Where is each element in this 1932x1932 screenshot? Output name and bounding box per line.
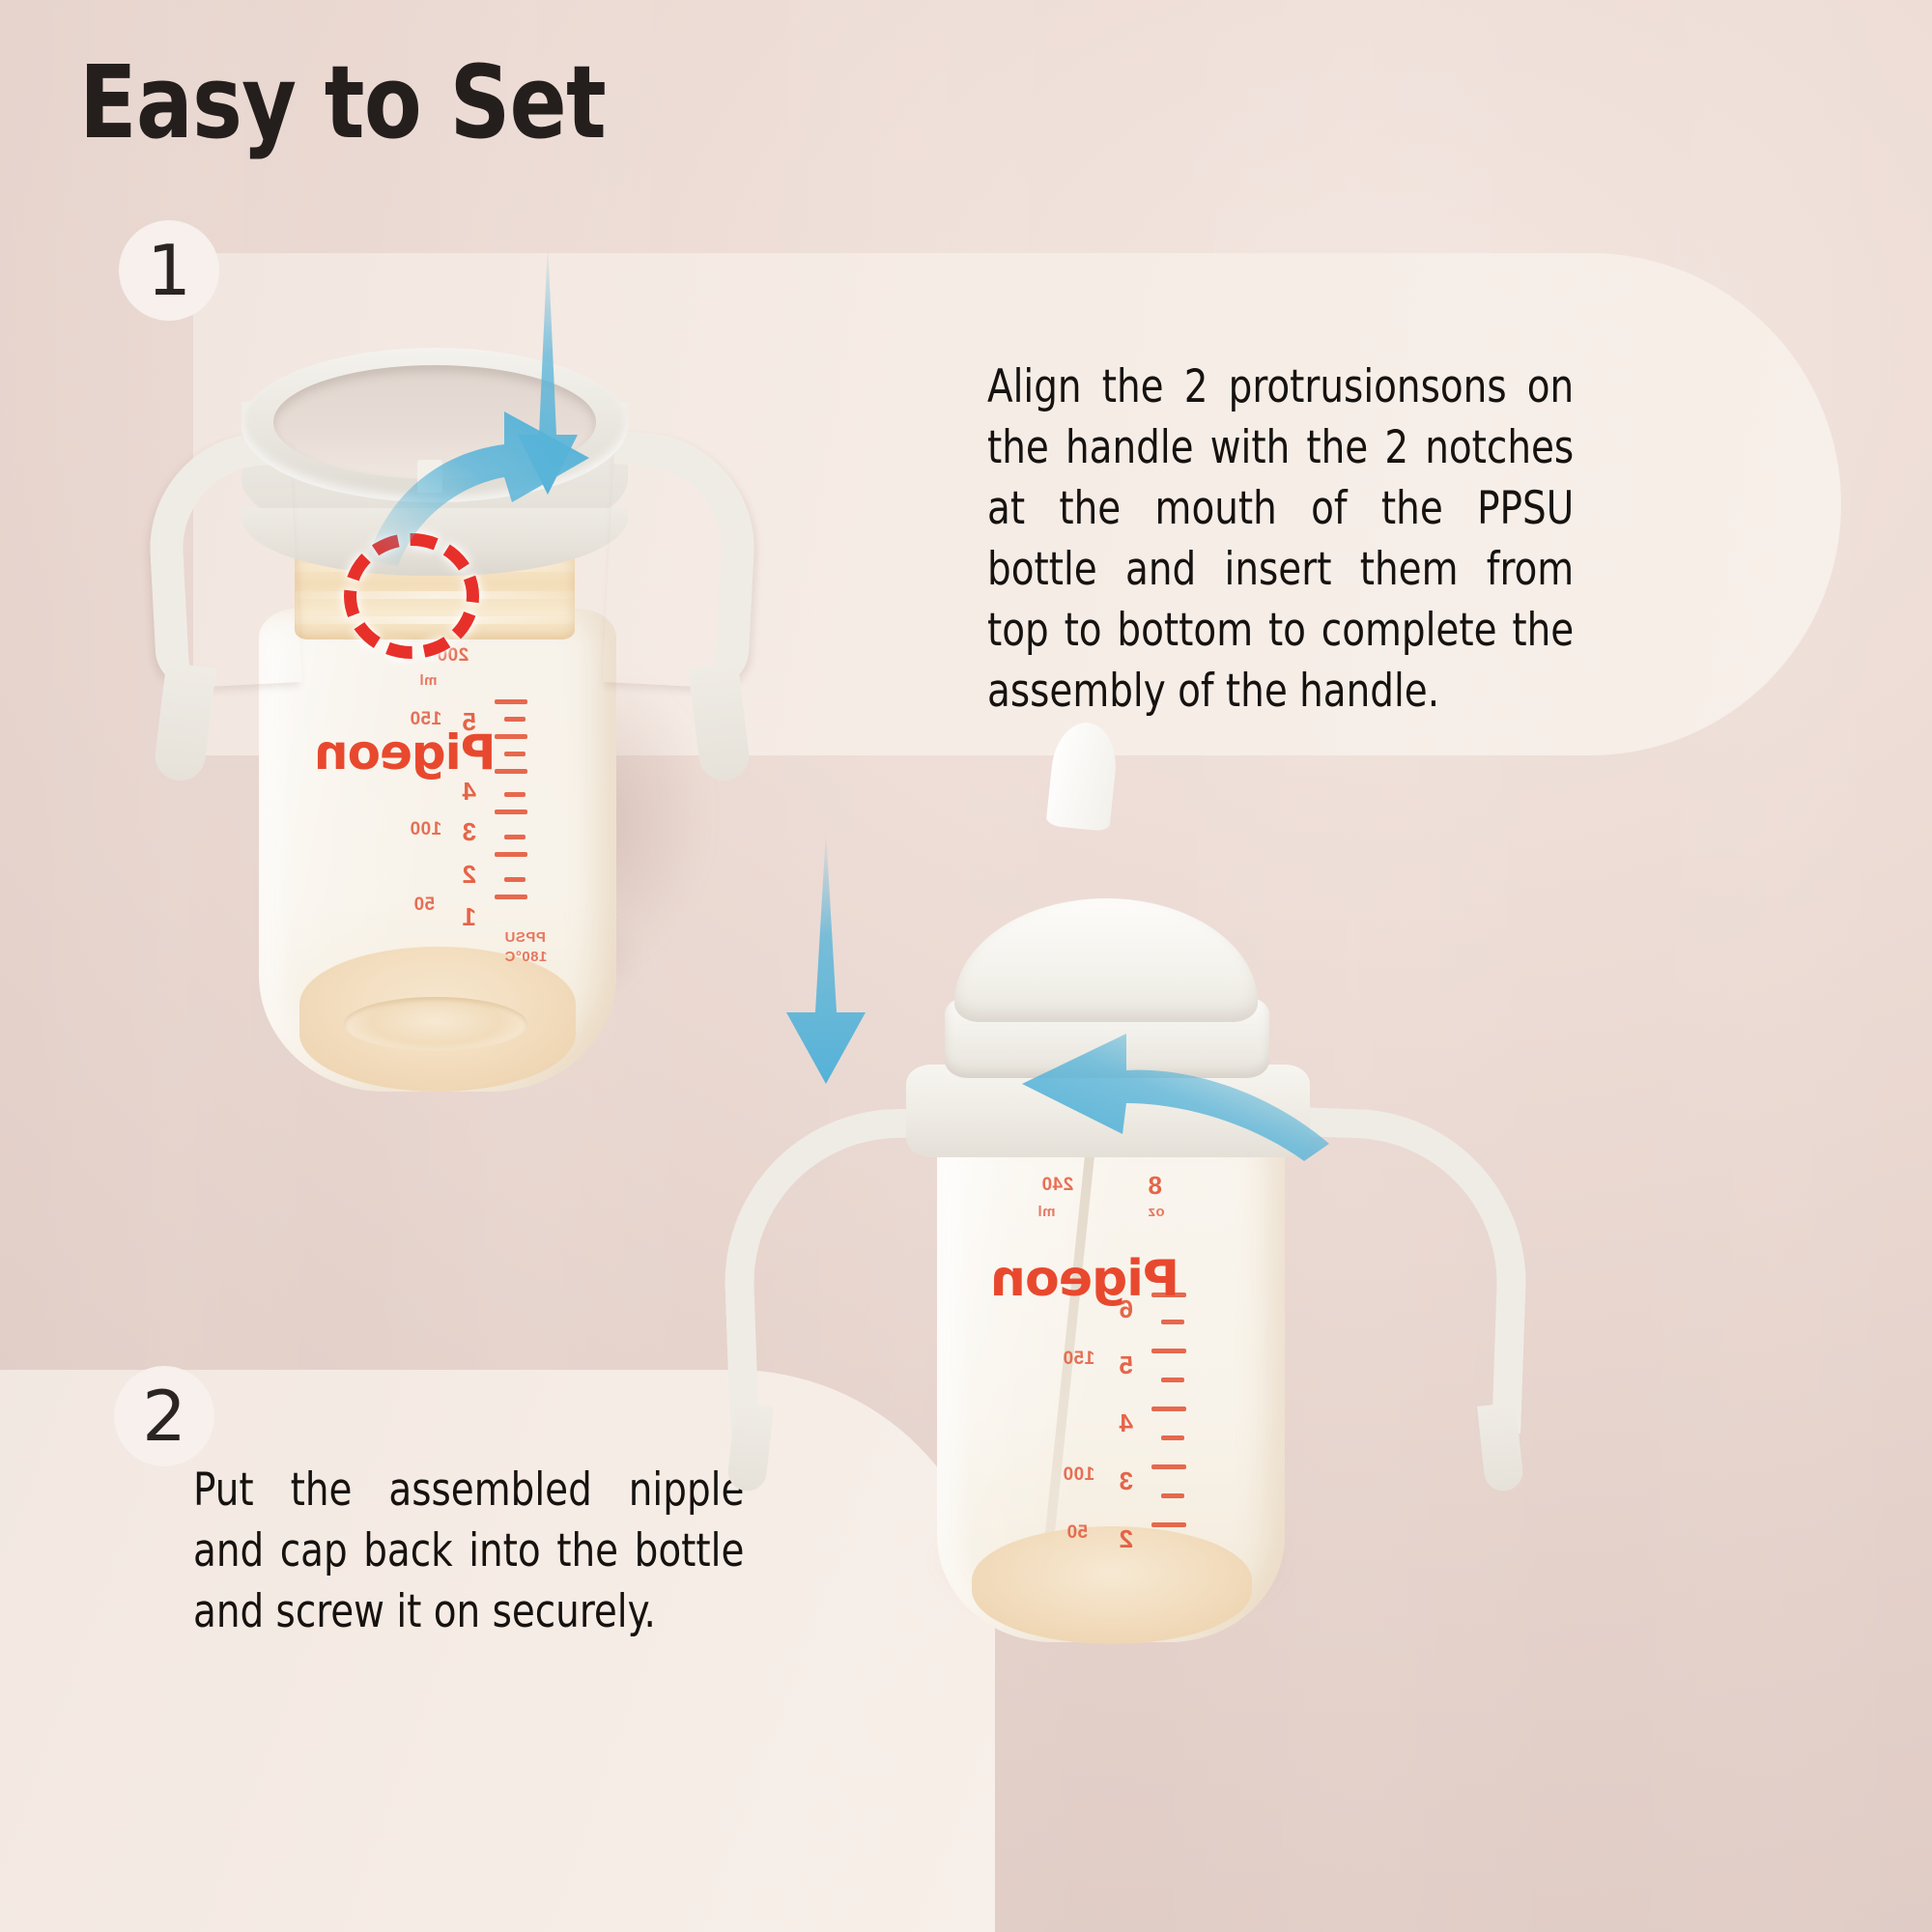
brand-logo-right: Pigeon <box>991 1250 1179 1308</box>
scale-ml-150-2: 150 <box>1063 1349 1094 1370</box>
scale-oz-4-2: 4 <box>1119 1408 1133 1438</box>
scale-ml-100: 100 <box>410 819 441 840</box>
scale-oz-3: 3 <box>462 817 476 847</box>
infographic-canvas: Easy to Set 1 Align the 2 protrusionsons… <box>0 0 1932 1932</box>
step-1-description-text: Align the 2 protrusionsons on the handle… <box>987 357 1574 723</box>
scale-ml-100-2: 100 <box>1063 1464 1094 1486</box>
scale-oz-3-2: 3 <box>1119 1466 1133 1496</box>
step-1-product-photo: 200 ml 5 150 4 3 100 2 1 50 PPSU 180°C P <box>145 319 744 1121</box>
ppsu-bottle-base-ring <box>344 997 527 1051</box>
bottle-scale-markings: 200 ml 5 150 4 3 100 2 1 50 PPSU 180°C <box>315 657 566 976</box>
step-1-number: 1 <box>147 236 191 305</box>
nipple-cap-dome <box>954 898 1258 1022</box>
step-2-description: Put the assembled nipple and cap back in… <box>193 1461 744 1643</box>
handle-arm-right <box>602 431 759 689</box>
step-2-product-photo: 240 ml 8 oz 6 5 150 4 3 100 2 50 Pigeon <box>744 792 1497 1700</box>
arrow-curve-left-icon <box>1014 1020 1333 1165</box>
step-2-description-text: Put the assembled nipple and cap back in… <box>193 1461 744 1643</box>
scale-oz-1: 1 <box>462 902 476 932</box>
material-label: PPSU <box>504 929 546 946</box>
bottle-scale-markings-2: 240 ml 8 oz 6 5 150 4 3 100 2 50 <box>985 1179 1256 1584</box>
scale-oz-5-2: 5 <box>1119 1350 1133 1380</box>
scale-oz-2: 2 <box>462 860 476 890</box>
scale-unit-label-2: ml <box>1037 1204 1056 1220</box>
step-2-number-badge: 2 <box>114 1366 214 1466</box>
scale-oz-2-2: 2 <box>1119 1524 1133 1554</box>
scale-oz-4: 4 <box>462 777 476 807</box>
scale-ml-50: 50 <box>413 895 435 916</box>
arrow-down-icon-2 <box>782 831 869 1121</box>
page-title: Easy to Set <box>79 50 606 156</box>
step-1-number-badge: 1 <box>119 220 219 321</box>
brand-logo-left: Pigeon <box>315 724 496 781</box>
scale-unit-label: ml <box>419 672 438 689</box>
scale-oz-8: 8 <box>1148 1171 1162 1201</box>
arrow-curve-icon <box>359 377 611 570</box>
step-2-number: 2 <box>142 1381 186 1451</box>
scale-capacity-top-2: 240 <box>1041 1175 1073 1196</box>
step-1-description: Align the 2 protrusionsons on the handle… <box>987 357 1574 723</box>
temperature-label: 180°C <box>504 949 547 965</box>
scale-ml-50-2: 50 <box>1066 1522 1088 1544</box>
